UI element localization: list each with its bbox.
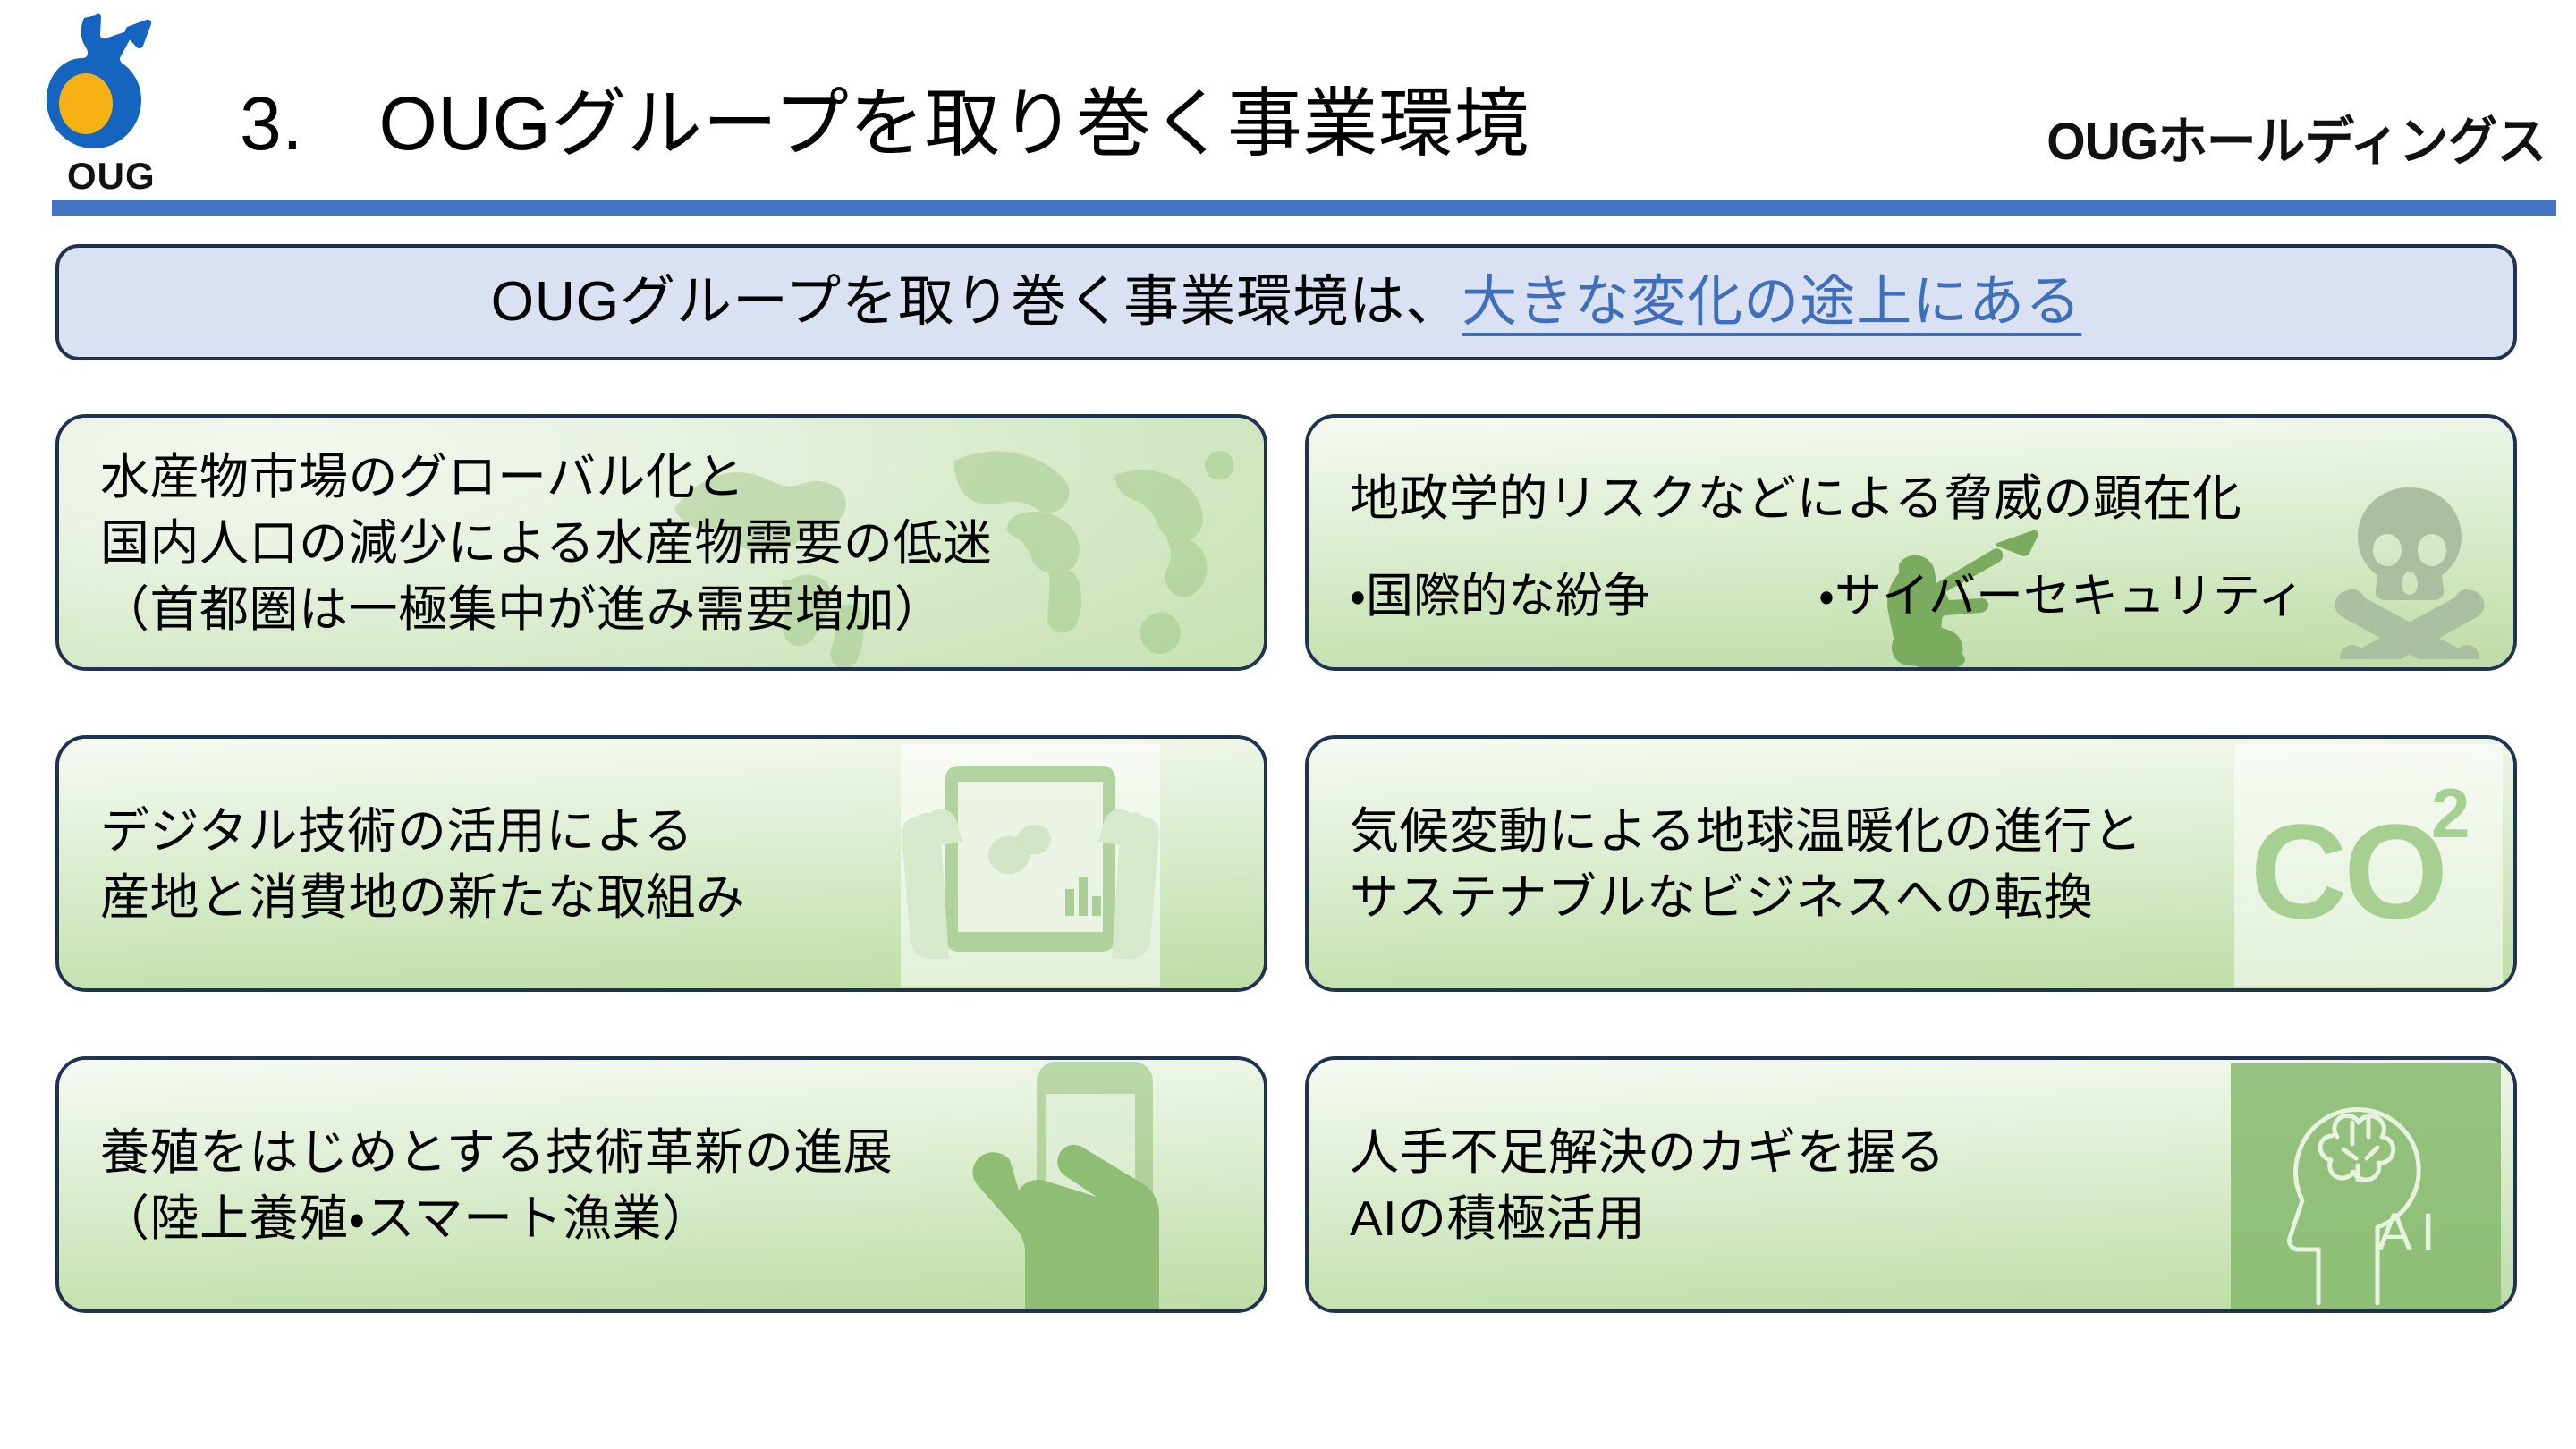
card-climate-change: CO 2 気候変動による地球温暖化の進行と サステナブルなビジネスへの転換: [1305, 735, 2517, 992]
card-text: 地政学的リスクなどによる脅威の顕在化 ・国際的な紛争 ・サイバーセキュリティ: [1309, 418, 2513, 667]
card-line: デジタル技術の活用による: [100, 798, 1264, 864]
slide-root: OUG 3. OUGグループを取り巻く事業環境 OUGホールディングス OUGグ…: [0, 0, 2576, 1449]
card-text: デジタル技術の活用による 産地と消費地の新たな取組み: [59, 739, 1264, 988]
headline-banner: OUGグループを取り巻く事業環境は、大きな変化の途上にある: [55, 244, 2517, 360]
card-line: 水産物市場のグローバル化と: [100, 444, 1264, 510]
card-line: 産地と消費地の新たな取組み: [100, 864, 1264, 930]
logo-wordmark: OUG: [67, 155, 156, 197]
card-line: 地政学的リスクなどによる脅威の顕在化: [1350, 465, 2513, 531]
page-title: 3. OUGグループを取り巻く事業環境: [240, 70, 1939, 177]
card-digital-technology: デジタル技術の活用による 産地と消費地の新たな取組み: [55, 735, 1267, 992]
card-line: （首都圏は一極集中が進み需要増加）: [100, 576, 1264, 642]
card-text: 養殖をはじめとする技術革新の進展 （陸上養殖・スマート漁業）: [59, 1060, 1264, 1309]
card-line: 養殖をはじめとする技術革新の進展: [100, 1119, 1264, 1185]
card-bullets: ・国際的な紛争 ・サイバーセキュリティ: [1350, 572, 2513, 620]
card-line: 人手不足解決のカギを握る: [1350, 1119, 2513, 1185]
card-line: （陸上養殖・スマート漁業）: [100, 1185, 1264, 1251]
card-text: 水産物市場のグローバル化と 国内人口の減少による水産物需要の低迷 （首都圏は一極…: [59, 418, 1264, 667]
bullet-item: ・国際的な紛争: [1350, 572, 1650, 620]
headline-plain: OUGグループを取り巻く事業環境は、: [491, 271, 1462, 333]
card-line: 気候変動による地球温暖化の進行と: [1350, 798, 2513, 864]
card-geopolitical-risk: 地政学的リスクなどによる脅威の顕在化 ・国際的な紛争 ・サイバーセキュリティ: [1305, 414, 2517, 671]
card-ai-utilization: AI 人手不足解決のカギを握る AIの積極活用: [1305, 1056, 2517, 1313]
card-line: 国内人口の減少による水産物需要の低迷: [100, 510, 1264, 576]
brand-lockup: OUGホールディングス: [2046, 114, 2546, 170]
card-globalization: 水産物市場のグローバル化と 国内人口の減少による水産物需要の低迷 （首都圏は一極…: [55, 414, 1267, 671]
oug-logo: OUG: [20, 7, 190, 199]
card-text: 人手不足解決のカギを握る AIの積極活用: [1309, 1060, 2513, 1309]
card-aquaculture-innovation: 養殖をはじめとする技術革新の進展 （陸上養殖・スマート漁業）: [55, 1056, 1267, 1313]
card-grid: 水産物市場のグローバル化と 国内人口の減少による水産物需要の低迷 （首都圏は一極…: [55, 414, 2517, 1313]
card-line: AIの積極活用: [1350, 1185, 2513, 1251]
headline-text: OUGグループを取り巻く事業環境は、大きな変化の途上にある: [491, 275, 2082, 330]
header-rule: [52, 200, 2556, 216]
headline-highlight: 大きな変化の途上にある: [1462, 271, 2081, 333]
bullet-item: ・サイバーセキュリティ: [1818, 572, 2305, 620]
card-line: サステナブルなビジネスへの転換: [1350, 864, 2513, 930]
card-text: 気候変動による地球温暖化の進行と サステナブルなビジネスへの転換: [1309, 739, 2513, 988]
